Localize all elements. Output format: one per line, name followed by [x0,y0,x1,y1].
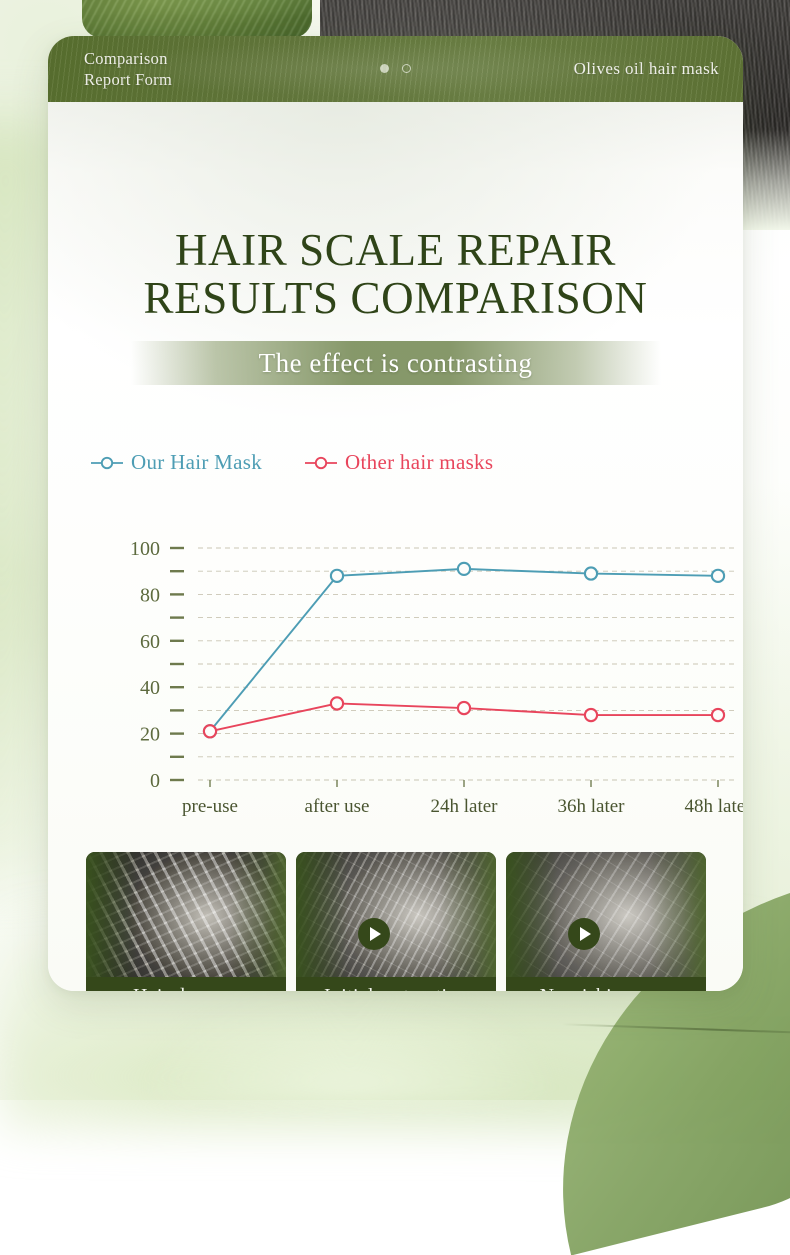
result-card-caption: Hair damage [86,977,286,991]
x-tick-label: pre-use [182,796,238,817]
chart-x-ticks [210,780,718,787]
play-triangle-icon [370,927,381,941]
card-green-edge [86,852,286,991]
page-title: HAIR SCALE REPAIR RESULTS COMPARISON [48,226,743,322]
legend-label-others: Other hair masks [345,450,493,475]
product-name-label: Olives oil hair mask [574,59,719,79]
play-button-1[interactable] [358,918,390,950]
data-point-marker[interactable] [585,709,597,721]
card-green-edge [506,852,706,991]
subtitle-text: The effect is contrasting [259,348,533,379]
chart-y-axis-labels: 020406080100 [130,538,160,792]
x-tick-label: 36h later [557,796,625,817]
chart-x-axis-labels: pre-useafter use24h later36h later48h la… [182,796,743,817]
play-triangle-icon [580,927,591,941]
x-tick-label: 48h later [684,796,743,817]
olive-leaf-photo [82,0,312,38]
y-tick-label: 0 [150,770,160,792]
chart-gridlines [198,548,736,780]
legend-label-ours: Our Hair Mask [131,450,262,475]
result-card-nourishing-care[interactable]: Nourishing care [506,852,706,991]
data-point-marker[interactable] [331,697,343,709]
x-tick-label: 24h later [430,796,498,817]
y-tick-label: 20 [140,724,160,746]
page-dot-active[interactable] [380,64,389,73]
data-point-marker[interactable] [585,567,597,579]
x-tick-label: after use [305,796,370,817]
subtitle-band: The effect is contrasting [131,341,661,385]
title-line-1: HAIR SCALE REPAIR [48,226,743,274]
chart-legend: Our Hair Mask Other hair masks [90,450,493,475]
chart-series [204,563,724,738]
y-tick-label: 40 [140,677,160,699]
card-body: HAIR SCALE REPAIR RESULTS COMPARISON The… [48,102,743,991]
data-point-marker[interactable] [458,702,470,714]
y-tick-label: 60 [140,631,160,653]
data-point-marker[interactable] [331,570,343,582]
y-tick-label: 80 [140,584,160,606]
chart-y-ticks [170,548,184,780]
legend-marker-ours-icon [90,455,124,471]
data-point-marker[interactable] [458,563,470,575]
title-line-2: RESULTS COMPARISON [48,274,743,322]
legend-item-others[interactable]: Other hair masks [304,450,493,475]
card-header: Comparison Report Form Olives oil hair m… [48,36,743,102]
result-card-hair-damage[interactable]: Hair damage [86,852,286,991]
comparison-report-card: Comparison Report Form Olives oil hair m… [48,36,743,991]
background-leaf-glow [140,980,560,1100]
data-point-marker[interactable] [712,570,724,582]
card-green-edge [296,852,496,991]
data-point-marker[interactable] [204,725,216,737]
legend-marker-others-icon [304,455,338,471]
data-point-marker[interactable] [712,709,724,721]
legend-item-ours[interactable]: Our Hair Mask [90,450,262,475]
result-image-row: Hair damage Initial restoration Nourishi… [86,852,706,991]
comparison-line-chart: 020406080100 pre-useafter use24h later36… [48,502,743,832]
y-tick-label: 100 [130,538,160,560]
page-dot-inactive[interactable] [402,64,411,73]
result-card-caption: Initial restoration [296,977,496,991]
play-button-2[interactable] [568,918,600,950]
chart-svg: 020406080100 pre-useafter use24h later36… [48,502,743,832]
result-card-initial-restoration[interactable]: Initial restoration [296,852,496,991]
result-card-caption: Nourishing care [506,977,706,991]
